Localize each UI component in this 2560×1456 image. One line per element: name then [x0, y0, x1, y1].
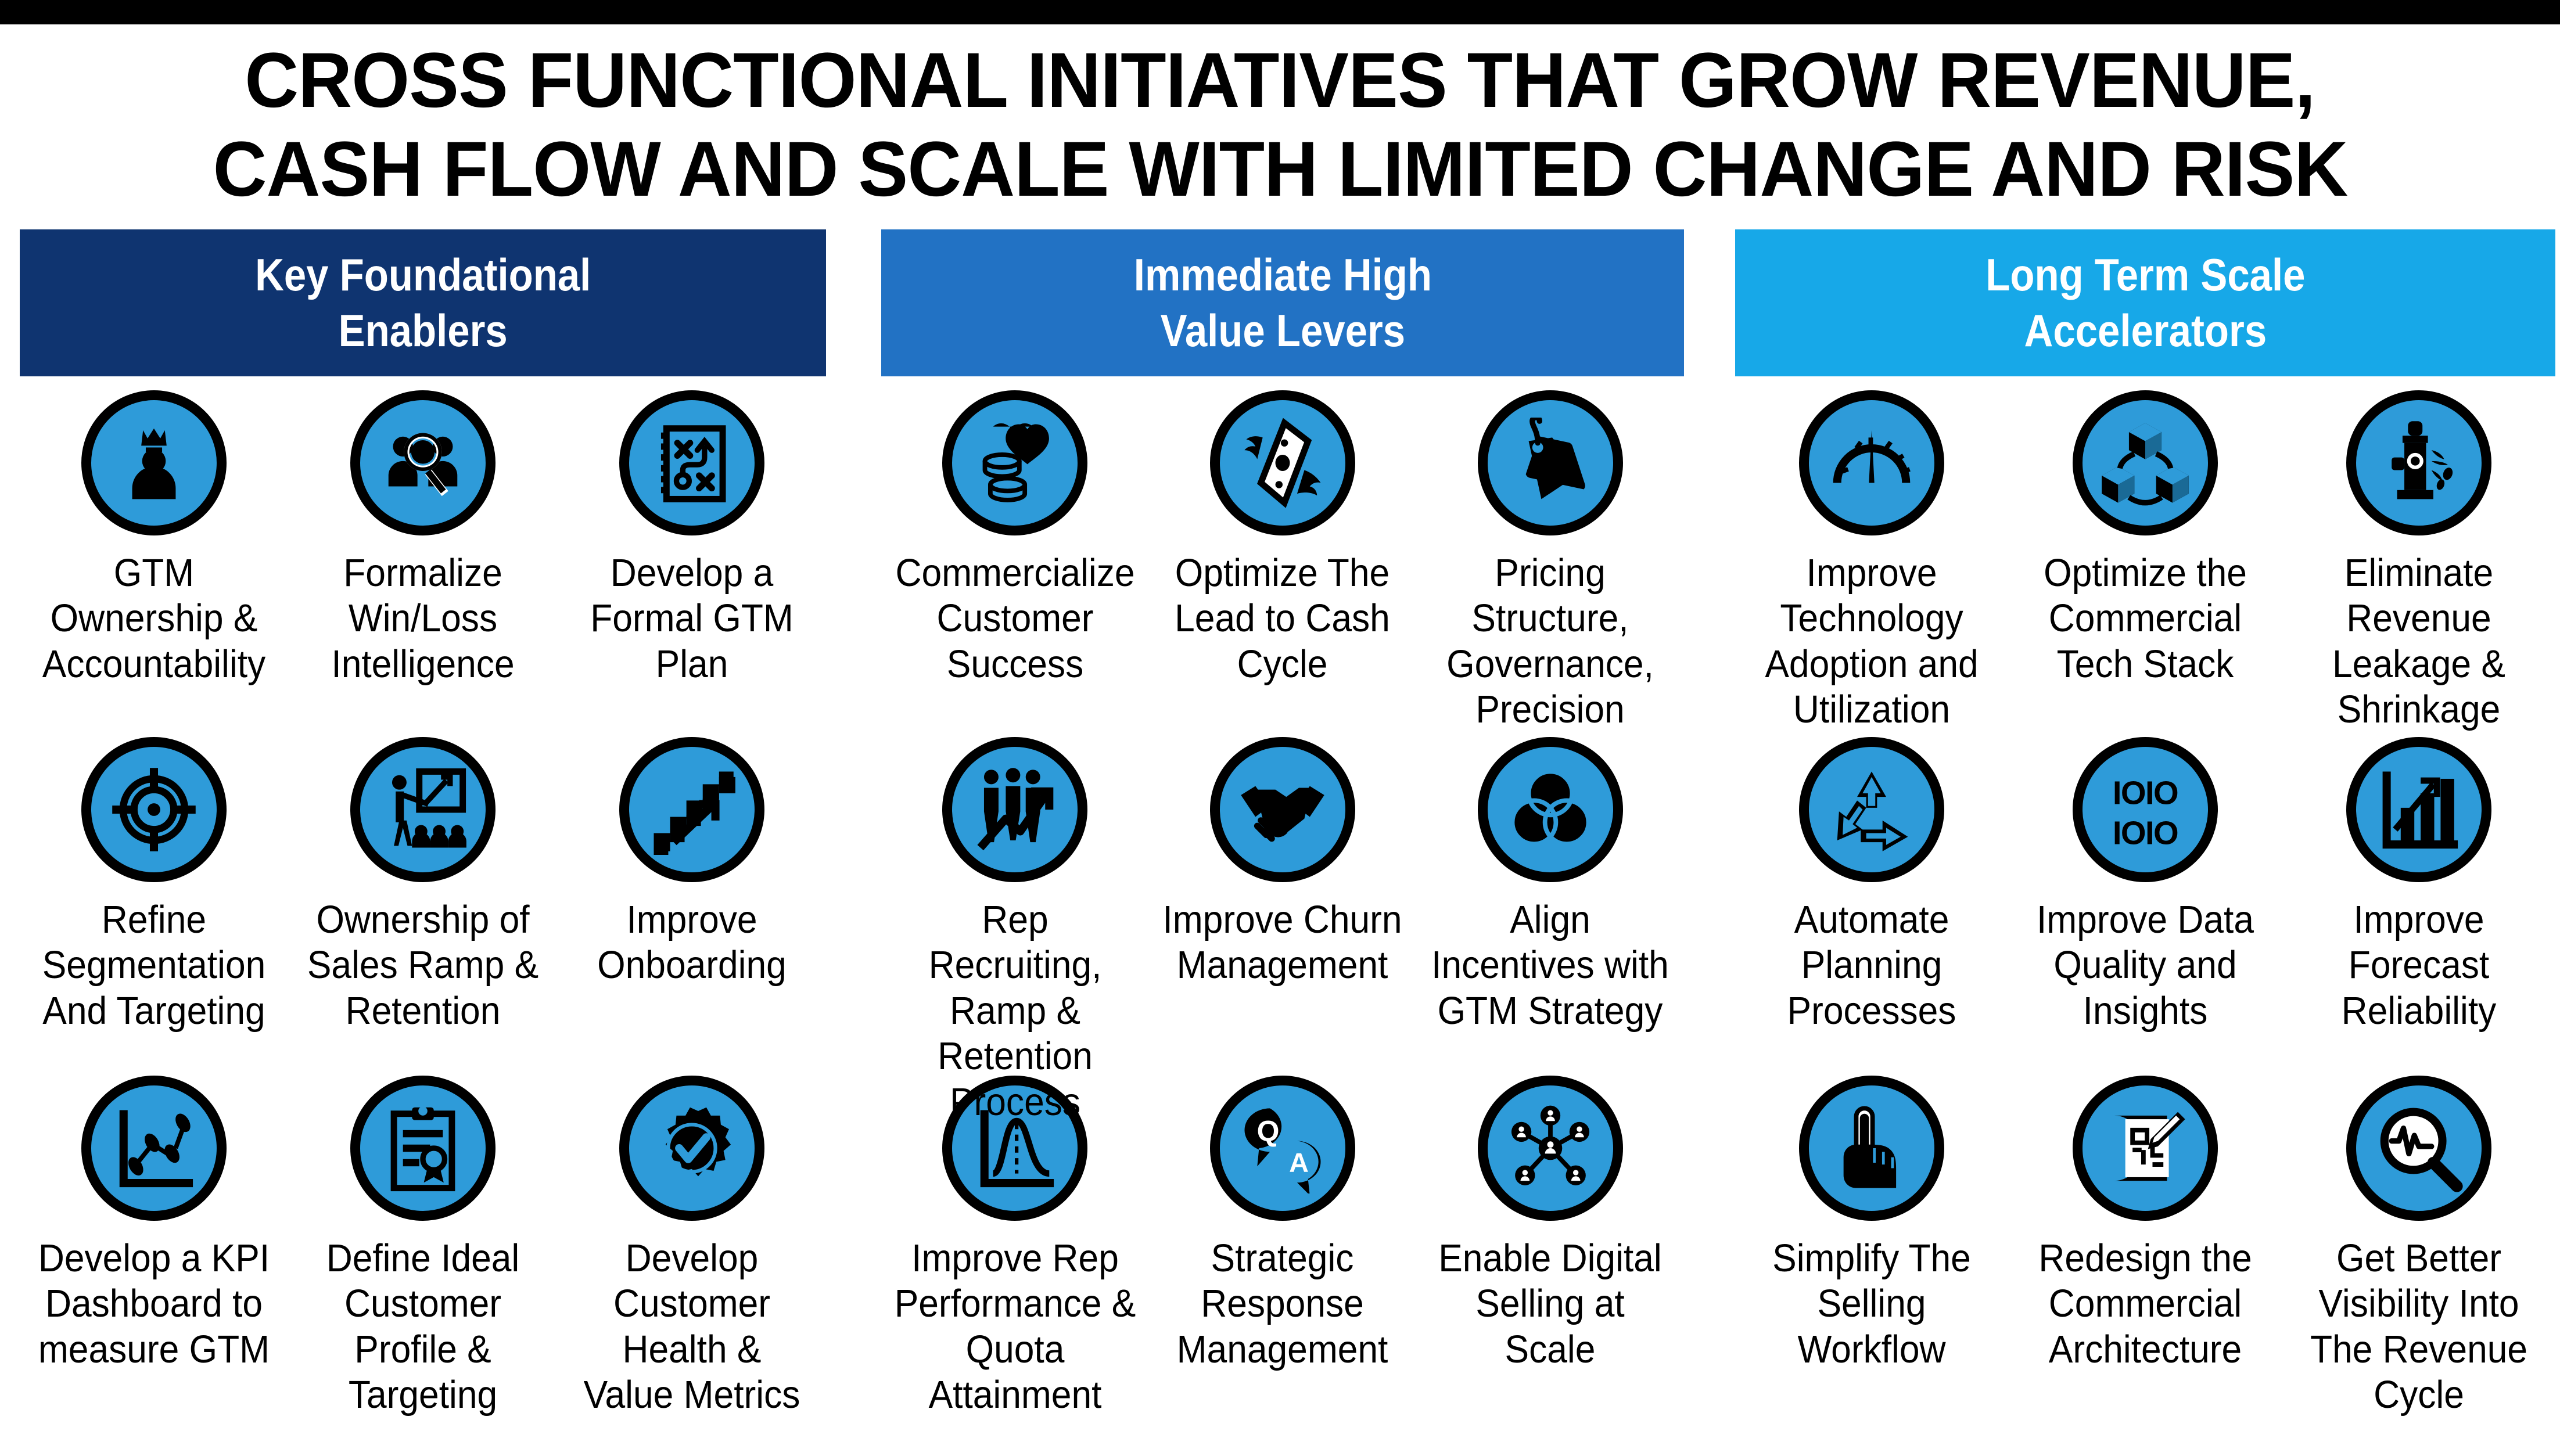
initiative-card[interactable]: Rep Recruiting, Ramp & Retention Process: [881, 732, 1149, 1071]
page-title: CROSS FUNCTIONAL INITIATIVES THAT GROW R…: [0, 27, 2560, 224]
magnifier-pulse-icon: [2346, 1076, 2491, 1221]
initiative-label: Develop a KPI Dashboard to measure GTM: [38, 1236, 270, 1372]
initiative-card[interactable]: Enable Digital Selling at Scale: [1416, 1071, 1684, 1443]
initiative-label: Eliminate Revenue Leakage & Shrinkage: [2300, 551, 2537, 733]
binary-data-icon: IOIOIOIO: [2073, 737, 2218, 882]
initiative-card[interactable]: Simplify The Selling Workflow: [1735, 1071, 2009, 1443]
initiative-card[interactable]: QA Strategic Response Management: [1149, 1071, 1417, 1443]
team-growth-arrow-icon: [942, 737, 1087, 882]
venn-diagram-icon: [1478, 737, 1623, 882]
initiative-label: Ownership of Sales Ramp & Retention: [307, 897, 539, 1034]
section-immediate-high-value-levers: Immediate High Value Levers Commercializ…: [828, 229, 1717, 1456]
initiative-card[interactable]: Get Better Visibility Into The Revenue C…: [2282, 1071, 2555, 1443]
playbook-strategy-icon: [619, 390, 764, 535]
initiative-card[interactable]: Align Incentives with GTM Strategy: [1416, 732, 1684, 1071]
section-header-3-line-2: Accelerators: [1985, 303, 2305, 358]
initiative-label: Optimize The Lead to Cash Cycle: [1159, 551, 1405, 687]
page-title-line-1: CROSS FUNCTIONAL INITIATIVES THAT GROW R…: [245, 37, 2315, 125]
cube-network-icon: [2073, 390, 2218, 535]
infographic-page: CROSS FUNCTIONAL INITIATIVES THAT GROW R…: [0, 0, 2560, 1456]
initiative-card[interactable]: GTM Ownership & Accountability: [20, 386, 289, 732]
initiative-card[interactable]: Formalize Win/Loss Intelligence: [289, 386, 558, 732]
initiative-card[interactable]: Improve Churn Management: [1149, 732, 1417, 1071]
section-header-2: Immediate High Value Levers: [881, 229, 1684, 376]
initiative-label: Refine Segmentation And Targeting: [38, 897, 270, 1034]
initiative-label: Optimize the Commercial Tech Stack: [2026, 551, 2264, 687]
section-header-1-line-2: Enablers: [255, 303, 591, 358]
initiative-label: Rep Recruiting, Ramp & Retention Process: [892, 897, 1138, 1125]
section-1-grid: GTM Ownership & Accountability Formalize…: [20, 386, 826, 1443]
initiative-label: Improve Technology Adoption and Utilizat…: [1753, 551, 1991, 733]
initiative-label: Get Better Visibility Into The Revenue C…: [2300, 1236, 2537, 1418]
initiative-card[interactable]: Define Ideal Customer Profile & Targetin…: [289, 1071, 558, 1443]
initiative-card[interactable]: Commercialize Customer Success: [881, 386, 1149, 732]
initiative-card[interactable]: Improve Onboarding: [557, 732, 826, 1071]
initiative-label: Align Incentives with GTM Strategy: [1427, 897, 1673, 1034]
handshake-icon: [1210, 737, 1355, 882]
badge-check-icon: [619, 1076, 764, 1221]
initiative-card[interactable]: Eliminate Revenue Leakage & Shrinkage: [2282, 386, 2555, 732]
initiative-card[interactable]: Redesign the Commercial Architecture: [2009, 1071, 2282, 1443]
speedometer-icon: [1799, 390, 1944, 535]
crowned-person-icon: [81, 390, 227, 535]
section-header-3-line-1: Long Term Scale: [1985, 247, 2305, 303]
initiative-label: Improve Forecast Reliability: [2300, 897, 2537, 1034]
target-crosshair-icon: [81, 737, 227, 882]
leaking-hydrant-icon: [2346, 390, 2491, 535]
clipboard-award-icon: [350, 1076, 496, 1221]
svg-text:IOIO: IOIO: [2113, 775, 2178, 811]
people-magnifier-icon: [350, 390, 496, 535]
svg-text:IOIO: IOIO: [2113, 814, 2178, 851]
initiative-card[interactable]: Automate Planning Processes: [1735, 732, 2009, 1071]
initiative-card[interactable]: Pricing Structure, Governance, Precision: [1416, 386, 1684, 732]
section-header-2-line-2: Value Levers: [1133, 303, 1431, 358]
initiative-card[interactable]: Develop Customer Health & Value Metrics: [557, 1071, 826, 1443]
initiative-label: Define Ideal Customer Profile & Targetin…: [307, 1236, 539, 1418]
initiative-label: Simplify The Selling Workflow: [1753, 1236, 1991, 1372]
question-answer-bubbles-icon: QA: [1210, 1076, 1355, 1221]
initiative-label: Develop Customer Health & Value Metrics: [576, 1236, 808, 1418]
people-network-icon: [1478, 1076, 1623, 1221]
initiative-card[interactable]: Develop a KPI Dashboard to measure GTM: [20, 1071, 289, 1443]
pointing-hand-icon: [1799, 1076, 1944, 1221]
stairs-arrow-icon: [619, 737, 764, 882]
initiative-card[interactable]: Develop a Formal GTM Plan: [557, 386, 826, 732]
initiative-label: GTM Ownership & Accountability: [38, 551, 270, 687]
initiative-label: Commercialize Customer Success: [892, 551, 1138, 687]
recycle-arrows-icon: [1799, 737, 1944, 882]
section-header-1: Key Foundational Enablers: [20, 229, 826, 376]
initiative-card[interactable]: Refine Segmentation And Targeting: [20, 732, 289, 1071]
initiative-label: Improve Data Quality and Insights: [2026, 897, 2264, 1034]
initiative-label: Strategic Response Management: [1159, 1236, 1405, 1372]
bar-chart-arrow-icon: [2346, 737, 2491, 882]
svg-text:Q: Q: [1257, 1115, 1280, 1148]
initiative-label: Redesign the Commercial Architecture: [2026, 1236, 2264, 1372]
initiative-label: Automate Planning Processes: [1753, 897, 1991, 1034]
svg-text:A: A: [1289, 1148, 1309, 1178]
initiative-label: Improve Rep Performance & Quota Attainme…: [892, 1236, 1138, 1418]
initiative-card[interactable]: Ownership of Sales Ramp & Retention: [289, 732, 558, 1071]
section-3-grid: Improve Technology Adoption and Utilizat…: [1735, 386, 2555, 1443]
initiative-label: Improve Churn Management: [1159, 897, 1405, 988]
initiative-card[interactable]: Optimize the Commercial Tech Stack: [2009, 386, 2282, 732]
initiative-label: Develop a Formal GTM Plan: [576, 551, 808, 687]
top-black-bar: [0, 0, 2560, 24]
sections-container: Key Foundational Enablers GTM Ownership …: [0, 229, 2560, 1456]
price-tag-icon: [1478, 390, 1623, 535]
initiative-card[interactable]: IOIOIOIO Improve Data Quality and Insigh…: [2009, 732, 2282, 1071]
initiative-card[interactable]: Optimize The Lead to Cash Cycle: [1149, 386, 1417, 732]
blueprint-pencil-icon: [2073, 1076, 2218, 1221]
flying-money-icon: [1210, 390, 1355, 535]
initiative-label: Enable Digital Selling at Scale: [1427, 1236, 1673, 1372]
scatter-chart-icon: [81, 1076, 227, 1221]
section-header-1-line-1: Key Foundational: [255, 247, 591, 303]
initiative-card[interactable]: Improve Technology Adoption and Utilizat…: [1735, 386, 2009, 732]
initiative-card[interactable]: Improve Rep Performance & Quota Attainme…: [881, 1071, 1149, 1443]
initiative-card[interactable]: Improve Forecast Reliability: [2282, 732, 2555, 1071]
presenter-training-icon: [350, 737, 496, 882]
initiative-label: Improve Onboarding: [576, 897, 808, 988]
initiative-label: Pricing Structure, Governance, Precision: [1427, 551, 1673, 733]
section-header-2-line-1: Immediate High: [1133, 247, 1431, 303]
coins-heart-icon: [942, 390, 1087, 535]
section-header-3: Long Term Scale Accelerators: [1735, 229, 2555, 376]
page-title-line-2: CASH FLOW AND SCALE WITH LIMITED CHANGE …: [213, 125, 2347, 214]
section-key-foundational-enablers: Key Foundational Enablers GTM Ownership …: [0, 229, 828, 1456]
section-2-grid: Commercialize Customer Success Optimize …: [881, 386, 1684, 1443]
section-long-term-scale-accelerators: Long Term Scale Accelerators Improve Tec…: [1717, 229, 2560, 1456]
initiative-label: Formalize Win/Loss Intelligence: [307, 551, 539, 687]
